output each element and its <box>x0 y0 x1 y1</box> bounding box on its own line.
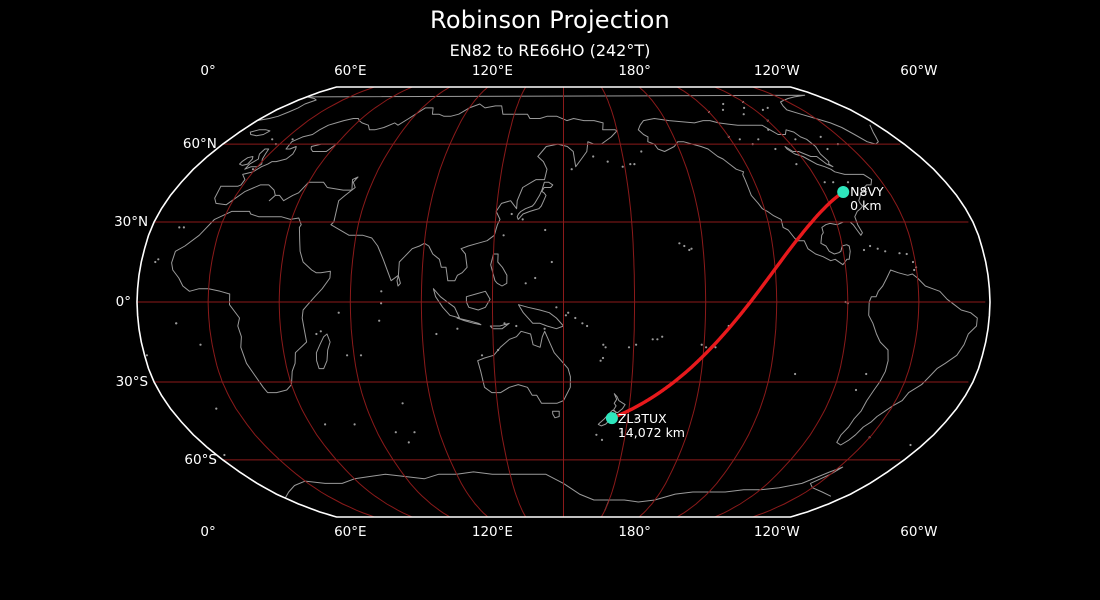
marker-label-zl3tux: ZL3TUX 14,072 km <box>618 412 685 440</box>
lon-tick-bottom-3: 120°W <box>754 524 800 540</box>
lat-tick-1: 30°N <box>114 214 148 230</box>
lon-tick-bottom-1: 120°E <box>472 524 513 540</box>
lat-tick-2: 0° <box>116 294 131 310</box>
lat-tick-4: 60°S <box>184 452 217 468</box>
robinson-map-canvas <box>0 0 1100 600</box>
lon-tick-top-3: 120°W <box>754 63 800 79</box>
lon-tick-top-4: 60°W <box>900 63 937 79</box>
lon-tick-top-1: 120°E <box>472 63 513 79</box>
lon-tick-top-0: 60°E <box>334 63 366 79</box>
lat-tick-3: 30°S <box>116 374 149 390</box>
lon-tick-bottom-0: 60°E <box>334 524 366 540</box>
lon-tick-top-5: 0° <box>200 63 215 79</box>
marker-distance: 14,072 km <box>618 426 685 440</box>
marker-callsign: ZL3TUX <box>618 412 685 426</box>
marker-dot-zl3tux[interactable] <box>606 412 618 424</box>
marker-label-n8vy: N8VY 0 km <box>850 185 884 213</box>
map-figure: Robinson Projection EN82 to RE66HO (242°… <box>0 0 1100 600</box>
lon-tick-bottom-4: 60°W <box>900 524 937 540</box>
marker-dot-n8vy[interactable] <box>837 186 849 198</box>
lat-tick-0: 60°N <box>183 136 217 152</box>
lon-tick-bottom-2: 180° <box>618 524 651 540</box>
lon-tick-bottom-5: 0° <box>200 524 215 540</box>
lon-tick-top-2: 180° <box>618 63 651 79</box>
marker-distance: 0 km <box>850 199 884 213</box>
marker-callsign: N8VY <box>850 185 884 199</box>
